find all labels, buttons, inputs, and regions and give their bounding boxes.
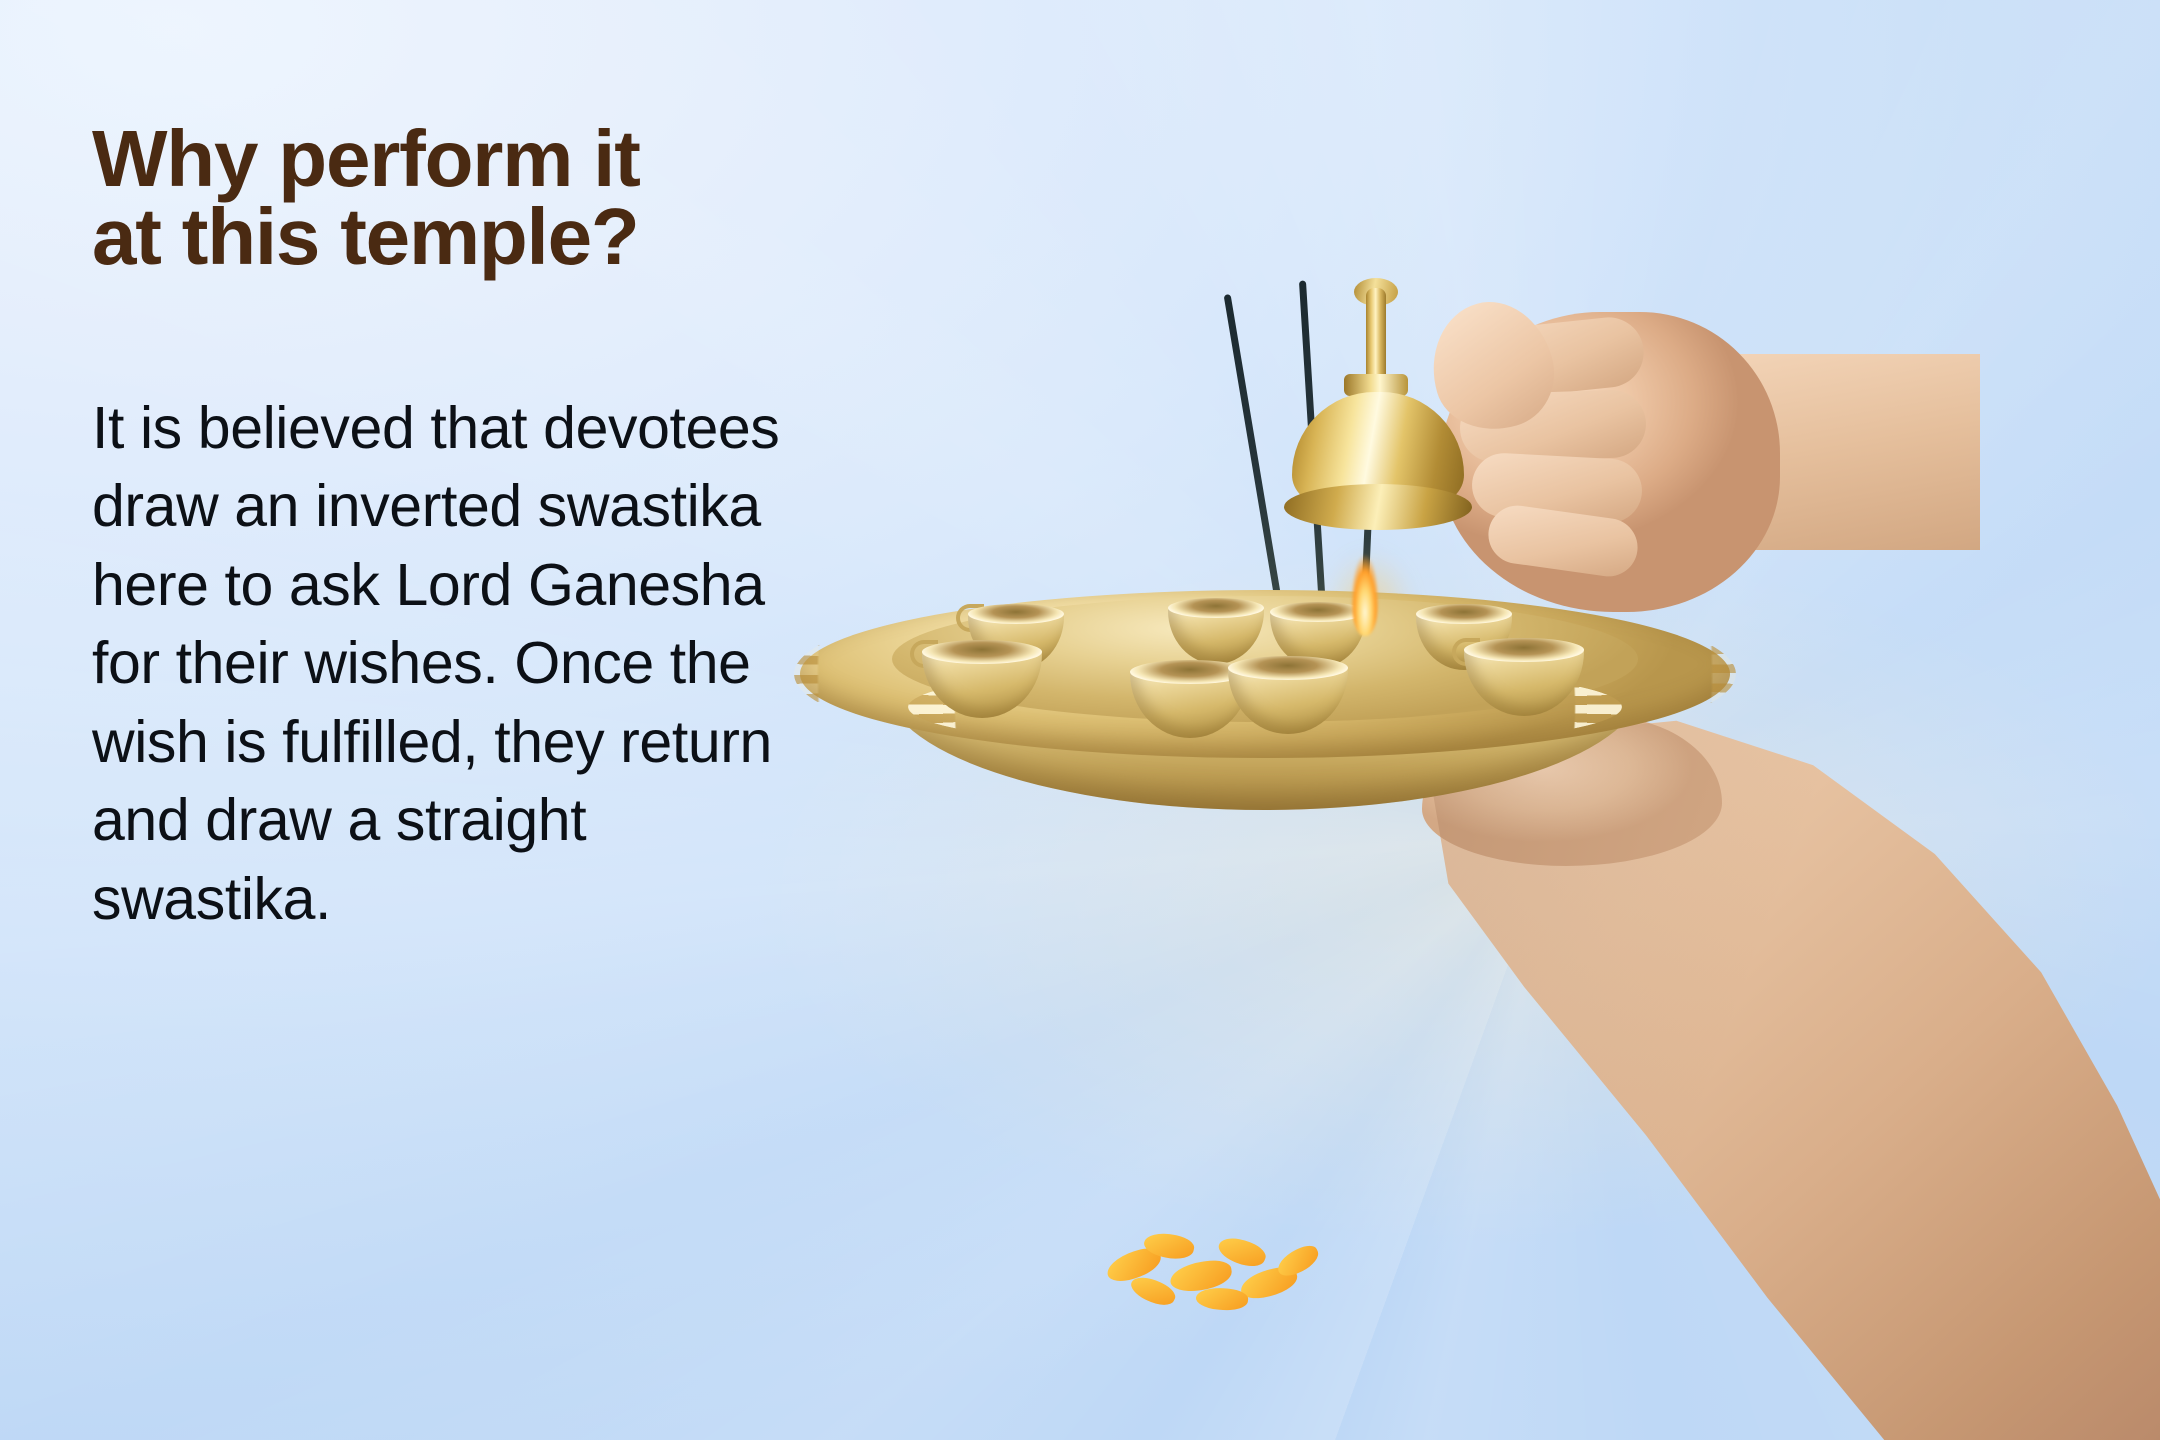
brass-bell xyxy=(1278,288,1478,538)
text-column: Why perform it at this temple? It is bel… xyxy=(92,120,1032,938)
diya-bowl xyxy=(1228,652,1348,734)
marigold-petals xyxy=(1100,1226,1330,1322)
incense-stick-icon xyxy=(1224,294,1285,621)
diya-lip xyxy=(968,604,1064,624)
diya-lip xyxy=(922,640,1042,664)
bell-handle xyxy=(1366,288,1386,384)
puja-photograph xyxy=(1020,0,2160,1440)
diya-lip xyxy=(1416,604,1512,624)
diya-lip xyxy=(1228,656,1348,680)
diya-lip xyxy=(1168,598,1264,618)
diya-lip xyxy=(1464,638,1584,662)
slide-canvas: Why perform it at this temple? It is bel… xyxy=(0,0,2160,1440)
puja-thali xyxy=(800,590,1730,790)
diya-bowl xyxy=(922,636,1042,718)
petal xyxy=(1273,1241,1322,1280)
page-title: Why perform it at this temple? xyxy=(92,120,1032,277)
diya-bowl xyxy=(1464,634,1584,716)
body-paragraph: It is believed that devotees draw an inv… xyxy=(92,389,792,938)
forearm-shading xyxy=(1418,706,2160,1440)
supporting-hand xyxy=(1418,706,2160,1440)
